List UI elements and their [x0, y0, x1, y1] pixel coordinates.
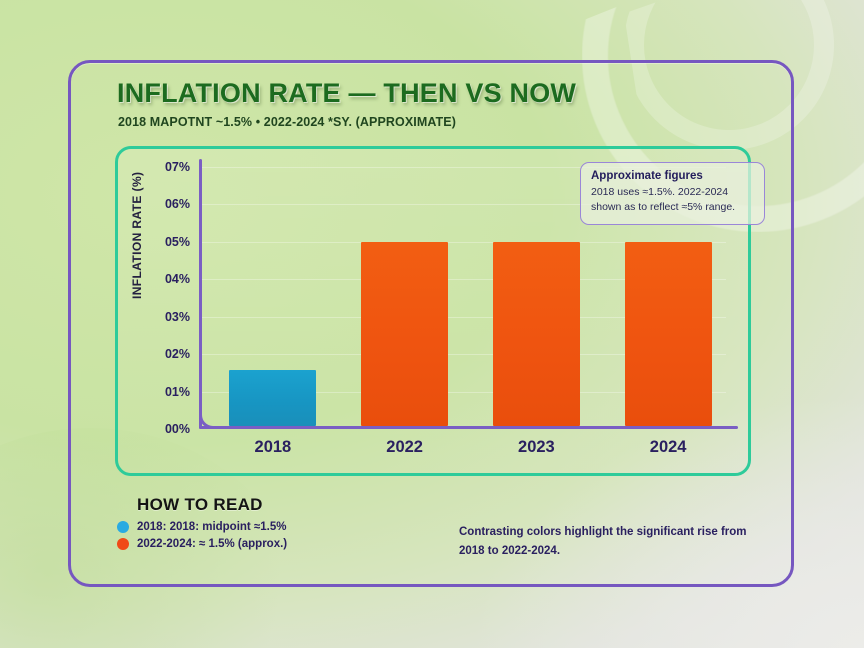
- legend-item-label: 2022-2024: ≈ 1.5% (approx.): [137, 538, 287, 550]
- chart-panel: INFLATION RATE (%) 00%01%02%03%04%05%06%…: [115, 146, 751, 476]
- legend-swatch-icon: [117, 538, 129, 550]
- chart-caption: Contrasting colors highlight the signifi…: [459, 523, 769, 561]
- y-axis-tick-label: 07%: [165, 160, 190, 174]
- x-axis-tick-label: 2023: [518, 438, 555, 457]
- how-to-read-heading: HOW TO READ: [137, 495, 263, 515]
- y-axis-tick-label: 01%: [165, 385, 190, 399]
- y-axis-line: [199, 159, 202, 429]
- legend-item-label: 2018: 2018: midpoint ≈1.5%: [137, 521, 286, 533]
- bar-2022[interactable]: [361, 242, 448, 426]
- chart-legend: 2018: 2018: midpoint ≈1.5%2022-2024: ≈ 1…: [117, 521, 287, 555]
- x-axis-tick-label: 2024: [650, 438, 687, 457]
- note-title: Approximate figures: [591, 170, 755, 182]
- legend-item[interactable]: 2022-2024: ≈ 1.5% (approx.): [117, 538, 287, 550]
- note-line-2: shown as to reflect ≈5% range.: [591, 200, 755, 215]
- y-axis-title: INFLATION RATE (%): [130, 172, 144, 299]
- y-axis-tick-label: 05%: [165, 235, 190, 249]
- page-subtitle: 2018 MAPOTNT ~1.5% • 2022-2024 *SY. (APP…: [118, 115, 456, 129]
- y-axis-tick-label: 00%: [165, 422, 190, 436]
- approximate-figures-note: Approximate figures 2018 uses ≈1.5%. 202…: [580, 162, 765, 225]
- bar-2023[interactable]: [493, 242, 580, 426]
- bar-2024[interactable]: [625, 242, 712, 426]
- note-line-1: 2018 uses ≈1.5%. 2022-2024: [591, 185, 755, 200]
- legend-swatch-icon: [117, 521, 129, 533]
- bar-2018[interactable]: [229, 370, 316, 426]
- y-axis-tick-label: 06%: [165, 197, 190, 211]
- x-axis-tick-label: 2018: [255, 438, 292, 457]
- legend-item[interactable]: 2018: 2018: midpoint ≈1.5%: [117, 521, 287, 533]
- page-title: INFLATION RATE — THEN VS NOW: [117, 78, 576, 109]
- y-axis-tick-label: 03%: [165, 310, 190, 324]
- x-axis-tick-label: 2022: [386, 438, 423, 457]
- x-axis-line: [199, 426, 738, 429]
- y-axis-tick-label: 02%: [165, 347, 190, 361]
- y-axis-tick-label: 04%: [165, 272, 190, 286]
- infographic-card: INFLATION RATE — THEN VS NOW 2018 MAPOTN…: [68, 60, 794, 587]
